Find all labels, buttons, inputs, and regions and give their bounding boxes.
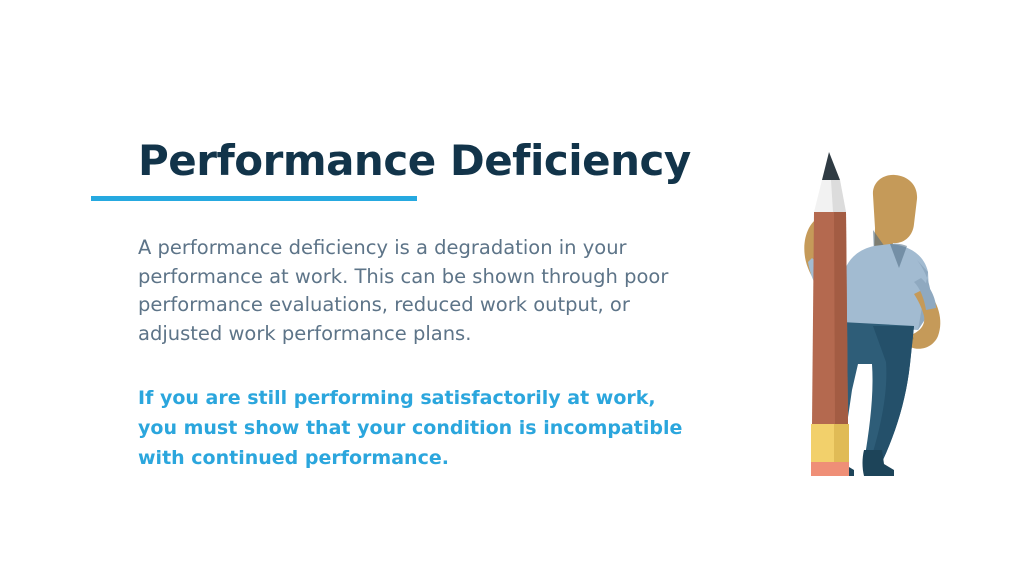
page-title: Performance Deficiency bbox=[138, 138, 683, 183]
text-content-block: Performance Deficiency A performance def… bbox=[138, 138, 683, 183]
slide-canvas: Performance Deficiency A performance def… bbox=[0, 0, 1024, 576]
body-paragraph: A performance deficiency is a degradatio… bbox=[138, 234, 683, 348]
emphasis-paragraph: If you are still performing satisfactori… bbox=[138, 383, 683, 473]
torso-shirt-shape bbox=[840, 244, 931, 330]
giant-pencil-shape bbox=[811, 152, 849, 476]
pencil-graphite-tip bbox=[822, 152, 840, 180]
head-shape bbox=[873, 175, 917, 254]
pencil-eraser bbox=[811, 462, 849, 476]
illustration-person-with-pencil bbox=[778, 150, 963, 480]
title-underline-rule bbox=[91, 196, 417, 201]
